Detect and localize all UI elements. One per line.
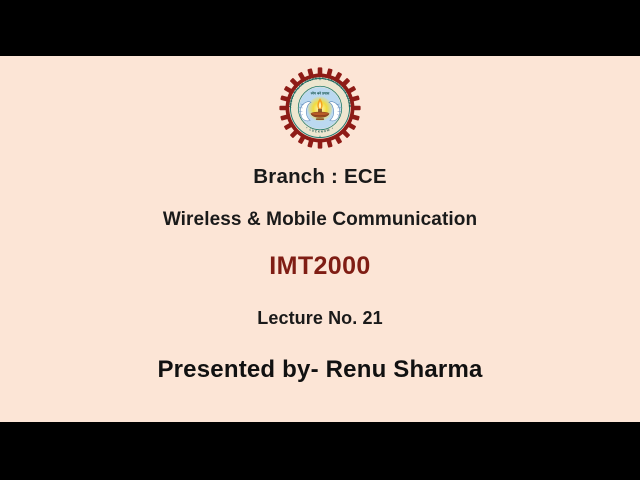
topic-title: IMT2000 xyxy=(269,252,370,281)
aktu-university-emblem: DR. A.P.J. ABDUL KALAM TECHNICAL UNIVERS… xyxy=(279,67,361,149)
lecture-title-slide: DR. A.P.J. ABDUL KALAM TECHNICAL UNIVERS… xyxy=(0,56,640,422)
video-frame: DR. A.P.J. ABDUL KALAM TECHNICAL UNIVERS… xyxy=(0,0,640,480)
aktu-emblem-svg: DR. A.P.J. ABDUL KALAM TECHNICAL UNIVERS… xyxy=(279,67,361,149)
branch-line: Branch : ECE xyxy=(253,165,386,189)
subject-line: Wireless & Mobile Communication xyxy=(163,209,477,231)
presenter-line: Presented by- Renu Sharma xyxy=(157,356,482,384)
slide-text-block: Branch : ECE Wireless & Mobile Communica… xyxy=(0,149,640,422)
emblem-motto-text: ध्येय बने प्रयास xyxy=(311,90,330,95)
lecture-number-line: Lecture No. 21 xyxy=(257,308,382,329)
letterbox-top-bar xyxy=(0,0,640,56)
letterbox-bottom-bar xyxy=(0,422,640,480)
